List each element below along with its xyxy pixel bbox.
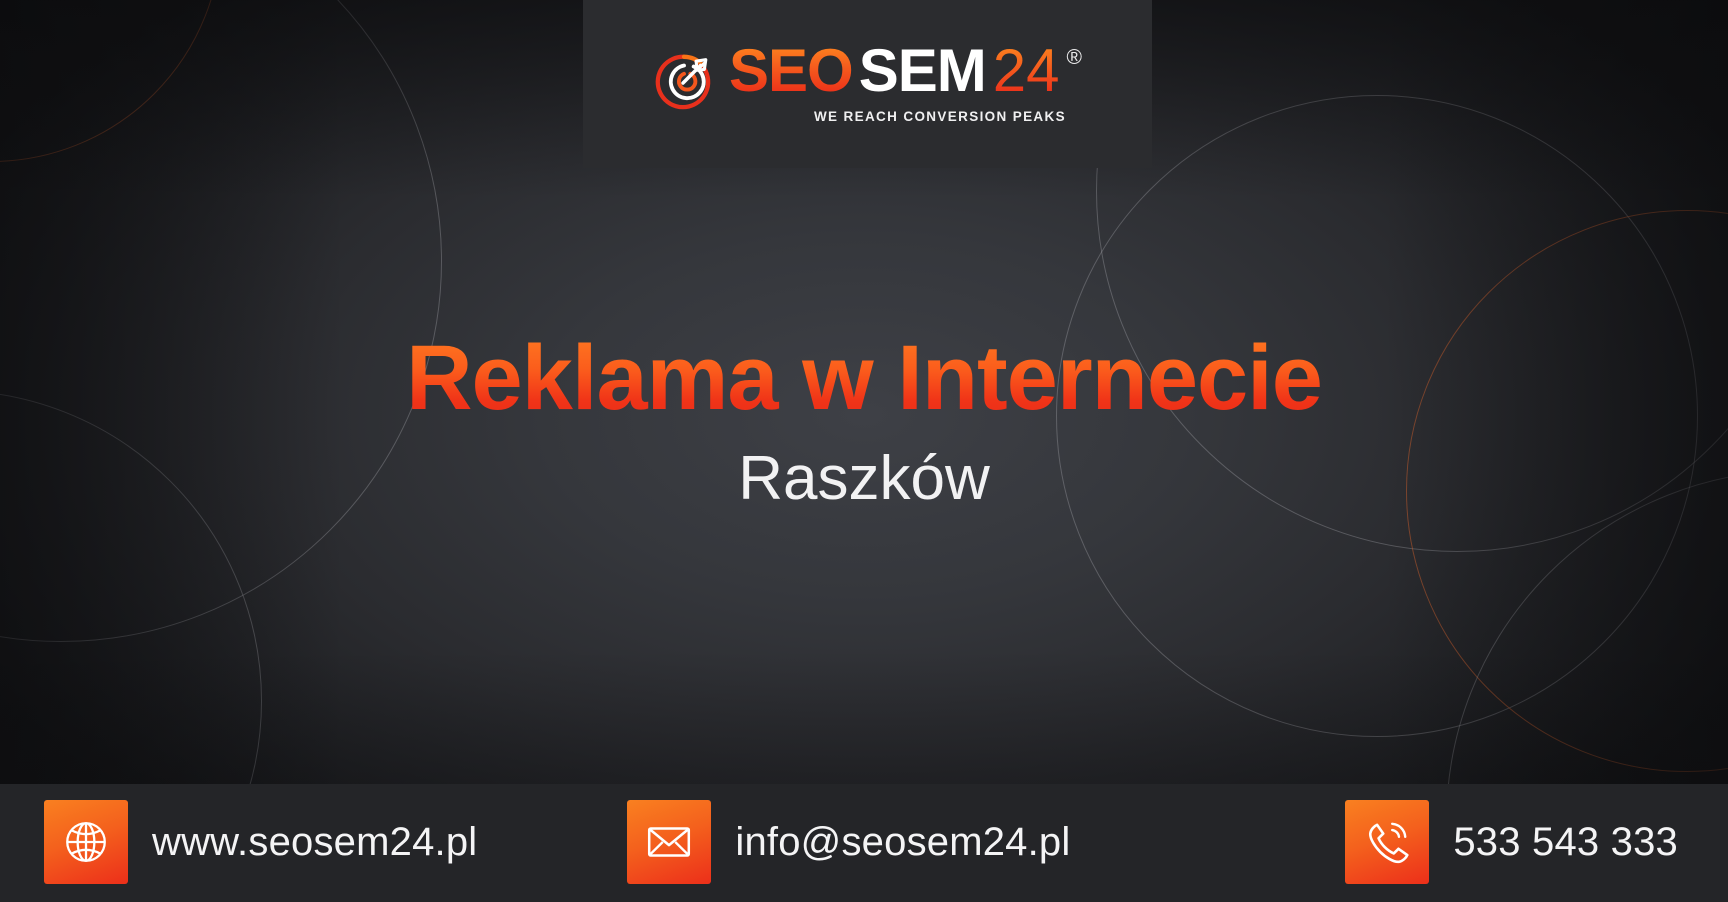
- logo-wordmark: SEO SEM 24 ® WE REACH CONVERSION PEAKS: [729, 41, 1082, 124]
- contact-phone-label: 533 543 333: [1453, 820, 1678, 865]
- page-subtitle: Raszków: [0, 446, 1728, 513]
- logo-number-text: 24: [993, 41, 1060, 101]
- logo-sem-text: SEM: [859, 41, 986, 101]
- promo-slide: SEO SEM 24 ® WE REACH CONVERSION PEAKS R…: [0, 0, 1728, 902]
- contact-bar: www.seosem24.pl info@seosem24.pl: [0, 796, 1728, 888]
- contact-website[interactable]: www.seosem24.pl: [44, 800, 477, 884]
- logo-panel: SEO SEM 24 ® WE REACH CONVERSION PEAKS: [583, 0, 1152, 168]
- logo-tagline: WE REACH CONVERSION PEAKS: [814, 110, 1082, 124]
- target-arrow-icon: [653, 51, 715, 113]
- contact-email[interactable]: info@seosem24.pl: [627, 800, 1070, 884]
- contact-website-label: www.seosem24.pl: [152, 820, 477, 865]
- page-title: Reklama w Internecie: [0, 330, 1728, 428]
- envelope-icon: [627, 800, 711, 884]
- contact-phone[interactable]: 533 543 333: [1345, 800, 1678, 884]
- contact-email-label: info@seosem24.pl: [735, 820, 1070, 865]
- headings-block: Reklama w Internecie Raszków: [0, 330, 1728, 512]
- logo-lockup: SEO SEM 24 ® WE REACH CONVERSION PEAKS: [653, 41, 1082, 124]
- logo-seo-text: SEO: [729, 41, 853, 101]
- phone-ring-icon: [1345, 800, 1429, 884]
- registered-mark-icon: ®: [1067, 47, 1082, 68]
- globe-icon: [44, 800, 128, 884]
- logo-wordmark-main: SEO SEM 24 ®: [729, 41, 1082, 101]
